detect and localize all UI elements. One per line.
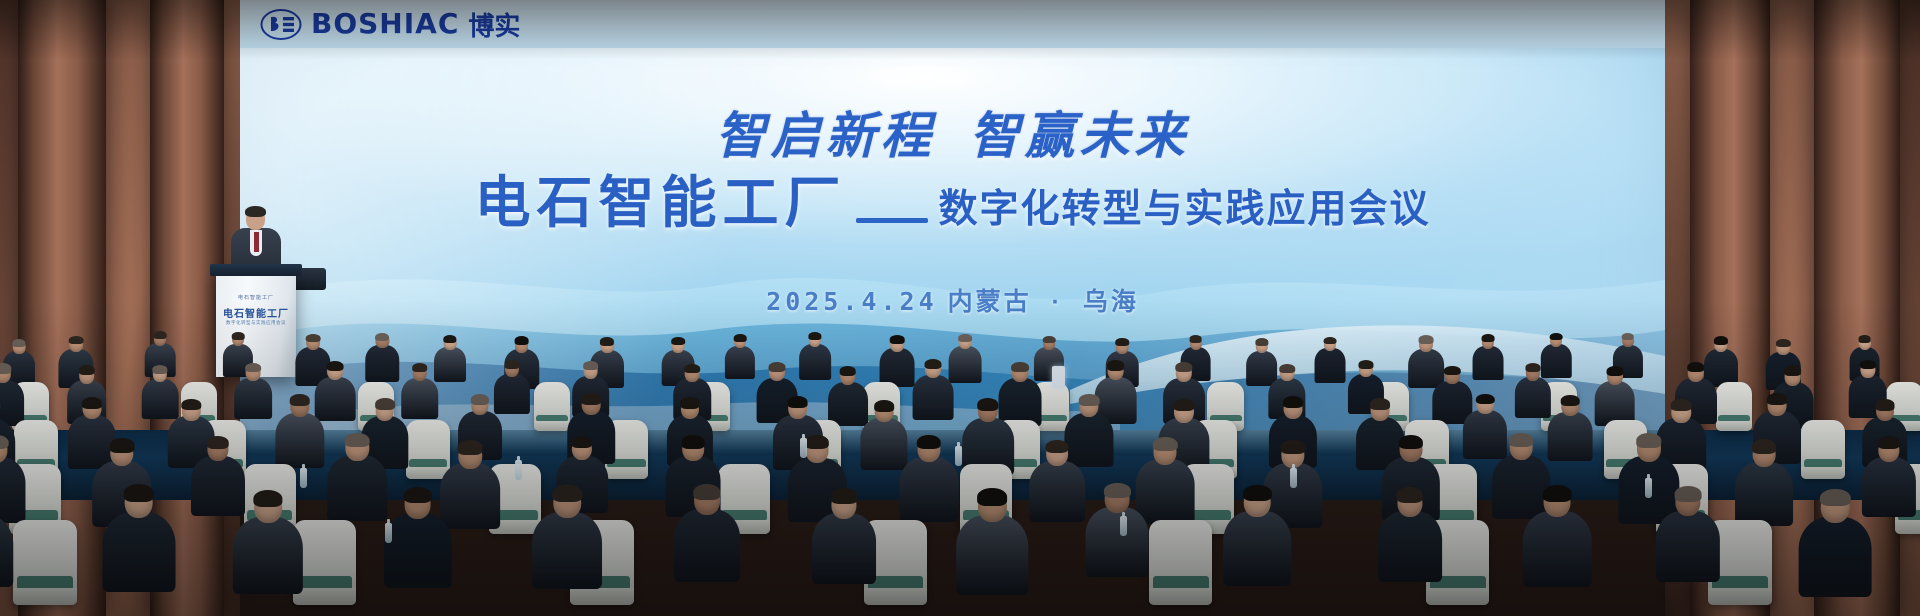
audience-member — [1373, 489, 1446, 592]
audience-chair — [1801, 420, 1845, 479]
audience-member — [379, 488, 457, 598]
audience-member — [271, 395, 327, 474]
screen-dateline: 2025.4.24 内蒙古 · 乌海 — [240, 282, 1665, 318]
audience-chair — [1716, 382, 1752, 431]
audience-member — [97, 486, 180, 603]
slogan-left: 智启新程 — [716, 106, 936, 165]
boshiac-logo-icon — [260, 8, 302, 41]
attendee-phone — [1052, 366, 1065, 388]
audience-member — [1082, 485, 1154, 586]
screen-headline: 电石智能工厂 数字化转型与实践应用会议 — [240, 158, 1665, 239]
audience-member — [909, 360, 956, 426]
audience-member — [0, 491, 18, 596]
water-bottle — [1290, 468, 1297, 488]
audience-member — [1313, 337, 1348, 387]
audience-member — [808, 490, 881, 593]
audience-member — [1471, 335, 1506, 385]
water-bottle — [385, 523, 392, 543]
audience-member — [723, 335, 758, 384]
audience-chair — [1149, 520, 1212, 605]
screen-brand-bar: BOSHIAC 博实 — [240, 0, 1665, 48]
water-bottle — [1645, 478, 1652, 498]
audience-member — [1219, 487, 1296, 596]
slogan-right: 智赢未来 — [970, 106, 1190, 165]
water-bottle — [955, 446, 962, 466]
company-logo: BOSHIAC 博实 — [260, 6, 520, 43]
audience-member — [952, 490, 1034, 605]
water-bottle — [1120, 516, 1127, 536]
audience-area — [0, 318, 1920, 616]
headline-subtitle: 数字化转型与实践应用会议 — [938, 178, 1430, 239]
brand-name-cn: 博实 — [468, 6, 520, 43]
audience-member — [527, 487, 607, 599]
audience-member — [363, 333, 401, 387]
event-city: 乌海 — [1083, 287, 1139, 316]
audience-member — [1651, 488, 1724, 591]
audience-member — [1026, 441, 1089, 530]
headline-main-title: 电石智能工厂 — [474, 158, 846, 239]
audience-chair — [13, 520, 76, 605]
event-province: 内蒙古 — [948, 287, 1032, 316]
conference-hall-photo: 智启新程智赢未来 电石智能工厂 数字化转型与实践应用会议 2025.4.24 内… — [0, 0, 1920, 616]
audience-member — [669, 485, 744, 591]
audience-member — [228, 491, 308, 604]
event-date: 2025.4.24 — [766, 287, 937, 316]
water-bottle — [515, 460, 522, 480]
podium-top-surface — [210, 264, 302, 276]
water-bottle — [300, 468, 307, 488]
audience-member — [1794, 491, 1877, 608]
brand-name-en: BOSHIAC — [311, 10, 459, 38]
water-bottle — [800, 438, 807, 458]
location-separator: · — [1052, 288, 1063, 316]
headline-dash-rule — [856, 218, 928, 223]
audience-member — [1518, 487, 1596, 597]
podium-brand-mark: 电石智能工厂 — [216, 294, 296, 301]
audience-member — [232, 364, 275, 425]
